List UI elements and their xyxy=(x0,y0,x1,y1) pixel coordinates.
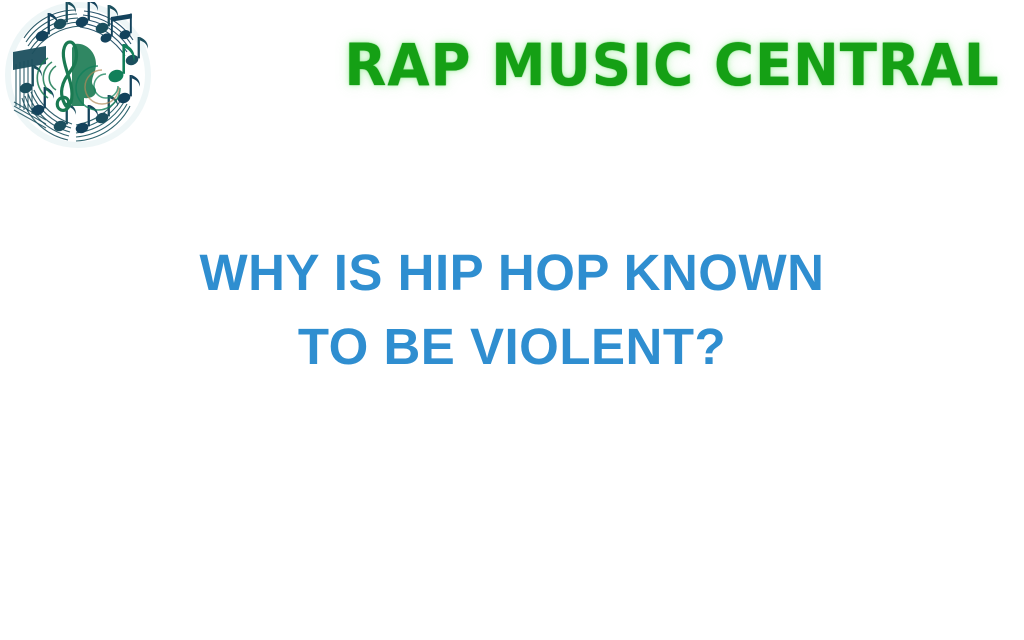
page-headline: WHY IS HIP HOP KNOWN TO BE VIOLENT? xyxy=(0,236,1024,384)
headline-line-1: WHY IS HIP HOP KNOWN xyxy=(0,236,1024,310)
music-notes-circle-logo[interactable] xyxy=(2,2,154,148)
headline-line-2: TO BE VIOLENT? xyxy=(0,310,1024,384)
page-canvas: RAP MUSIC CENTRAL WHY IS HIP HOP KNOWN T… xyxy=(0,0,1024,640)
site-title: RAP MUSIC CENTRAL xyxy=(356,29,988,101)
empty-content-area xyxy=(0,400,1024,640)
site-header: RAP MUSIC CENTRAL xyxy=(0,0,1024,150)
